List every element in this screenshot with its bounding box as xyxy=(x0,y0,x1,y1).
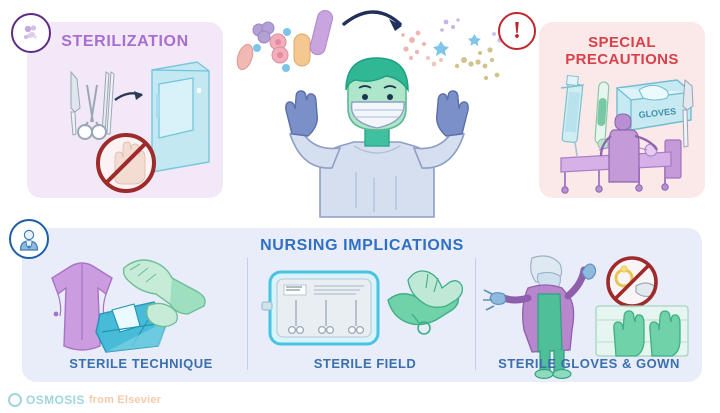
osmosis-logo: OSMOSIS from Elsevier xyxy=(8,393,161,407)
sterile-tray-icon xyxy=(262,272,378,344)
autoclave-icon xyxy=(152,62,209,172)
no-jewelry-icon xyxy=(608,258,656,306)
microbe-icon xyxy=(20,22,42,44)
panel-special-precautions: SPECIAL PRECAUTIONS xyxy=(539,22,705,198)
gloved-hands-icon xyxy=(388,271,462,334)
column-divider-1 xyxy=(247,258,248,370)
nursing-implications-title: NURSING IMPLICATIONS xyxy=(22,237,702,255)
column-divider-2 xyxy=(475,258,476,370)
sterile-gloves-gown-illustration xyxy=(484,254,696,362)
arrow-right-icon xyxy=(115,91,143,100)
nurse-badge xyxy=(9,219,49,259)
elsevier-tagline: from Elsevier xyxy=(89,394,161,406)
nurse-icon xyxy=(17,227,41,251)
nurse-gown-mask-icon xyxy=(286,58,468,217)
arrow-curved-icon xyxy=(344,12,402,31)
syringe-icon xyxy=(561,75,584,156)
center-illustration xyxy=(228,2,518,217)
caption-sterile-field: STERILE FIELD xyxy=(260,356,470,371)
microbe-badge xyxy=(11,13,51,53)
panel-sterilization: STERILIZATION xyxy=(27,22,223,198)
osmosis-logo-icon xyxy=(8,393,22,407)
sterilization-illustration xyxy=(27,22,223,198)
scalpel-icon xyxy=(71,72,80,135)
osmosis-wordmark: OSMOSIS xyxy=(26,393,85,407)
sterile-field-illustration xyxy=(260,254,470,362)
precautions-illustration: GLOVES xyxy=(539,22,705,198)
no-bare-hands-icon xyxy=(98,135,154,191)
glove-package-icon xyxy=(596,306,688,356)
sterile-technique-illustration xyxy=(36,254,246,362)
caption-sterile-gloves-gown: STERILE GLOVES & GOWN xyxy=(482,356,696,371)
exclamation-icon: ! xyxy=(513,19,521,43)
microbes-cluster-icon xyxy=(234,9,334,72)
surgical-scissors-icon xyxy=(78,85,106,139)
alert-badge: ! xyxy=(498,12,536,50)
caption-sterile-technique: STERILE TECHNIQUE xyxy=(36,356,246,371)
panel-nursing-implications: NURSING IMPLICATIONS xyxy=(22,228,702,382)
forceps-icon xyxy=(102,72,114,134)
infographic-canvas: STERILIZATION xyxy=(0,0,720,413)
